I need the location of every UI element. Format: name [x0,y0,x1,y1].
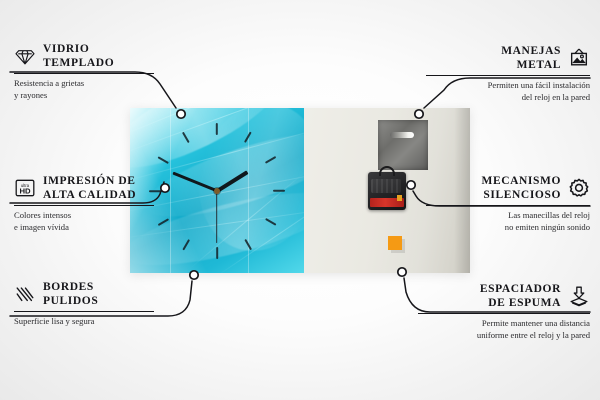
callout-header: MECANISMO SILENCIOSO [426,174,590,202]
callout-description: Resistencia a grietas y rayones [14,78,154,101]
clock-hour-hand [216,170,248,192]
clock-dial [130,108,304,273]
callout-title: ESPACIADOR DE ESPUMA [480,282,561,310]
mechanism-texture [371,179,401,193]
clock-minute-hand [172,171,218,192]
metal-hanger-plate [378,120,428,170]
battery-terminal [397,195,402,201]
callout-description: Las manecillas del reloj no emiten ningú… [426,210,590,233]
polished-edges-icon [14,283,36,305]
ultra-hd-icon: ultra HD [14,177,36,199]
callout-rule [14,205,154,206]
gear-icon [568,177,590,199]
infographic-stage: VIDRIO TEMPLADO Resistencia a grietas y … [0,0,600,400]
callout-impresion-alta-calidad: ultra HD IMPRESIÓN DE ALTA CALIDAD Color… [14,174,154,234]
hour-marker [158,217,170,225]
callout-rule [418,313,590,314]
hour-marker [182,238,190,250]
hour-marker [273,189,285,191]
hour-marker [265,155,277,163]
callout-rule [14,73,154,74]
battery [370,198,404,207]
callout-header: MANEJAS METAL [426,44,590,72]
clock-second-hand [216,191,217,243]
clock-mechanism-box [368,172,406,210]
callout-header: BORDES PULIDOS [14,280,154,308]
mechanism-hang-loop [379,166,395,176]
callout-title: IMPRESIÓN DE ALTA CALIDAD [43,174,136,202]
callout-rule [426,75,590,76]
hour-marker [216,247,218,259]
hour-marker [265,217,277,225]
clock-hand-cap [214,188,220,194]
product-image [130,108,470,273]
callout-description: Permite mantener una distancia uniforme … [418,318,590,341]
callout-rule [14,311,154,312]
callout-espaciador-espuma: ESPACIADOR DE ESPUMA Permite mantener un… [418,282,590,342]
callout-mecanismo-silencioso: MECANISMO SILENCIOSO Las manecillas del … [426,174,590,234]
svg-text:HD: HD [19,187,31,196]
foam-spacer-pad [388,236,402,250]
clock-front-panel [130,108,304,273]
callout-manejas-metal: MANEJAS METAL Permiten una fácil instala… [426,44,590,104]
picture-hanger-icon [568,47,590,69]
callout-bordes-pulidos: BORDES PULIDOS Superficie lisa y segura [14,280,154,328]
hour-marker [244,131,252,143]
diamond-icon [14,45,36,67]
callout-description: Superficie lisa y segura [14,316,154,328]
callout-rule [426,205,590,206]
hour-marker [158,155,170,163]
callout-title: BORDES PULIDOS [43,280,98,308]
callout-header: VIDRIO TEMPLADO [14,42,154,70]
callout-header: ESPACIADOR DE ESPUMA [418,282,590,310]
hanger-slot [390,132,414,138]
callout-title: VIDRIO TEMPLADO [43,42,114,70]
hour-marker [244,238,252,250]
callout-title: MECANISMO SILENCIOSO [481,174,561,202]
hour-marker [216,123,218,135]
callout-title: MANEJAS METAL [501,44,561,72]
hour-marker [182,131,190,143]
foam-spacer-icon [568,285,590,307]
callout-header: ultra HD IMPRESIÓN DE ALTA CALIDAD [14,174,154,202]
callout-vidrio-templado: VIDRIO TEMPLADO Resistencia a grietas y … [14,42,154,102]
callout-description: Colores intensos e imagen vívida [14,210,154,233]
callout-description: Permiten una fácil instalación del reloj… [426,80,590,103]
